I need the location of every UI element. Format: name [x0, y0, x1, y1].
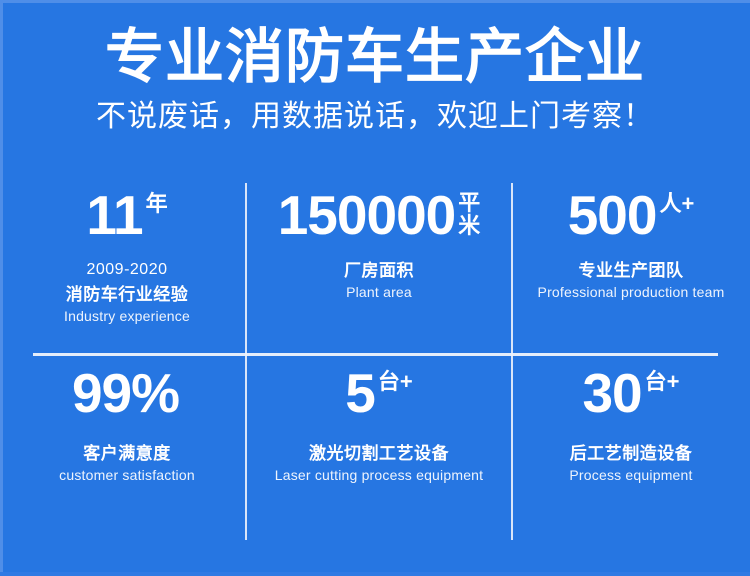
stat-value-row: 500 人+: [512, 184, 750, 256]
stat-number: 500: [568, 184, 657, 246]
stat-value-row: 5 台+: [246, 362, 512, 438]
stat-number: 30: [582, 362, 641, 424]
stat-label-cn: 激光切割工艺设备: [246, 442, 512, 465]
stat-card-customer-satisfaction: 99% 客户满意度 customer satisfaction: [8, 362, 246, 532]
stat-label-en: customer satisfaction: [8, 466, 246, 485]
stat-unit: 人+: [659, 192, 694, 216]
stat-number: 11: [86, 184, 142, 246]
stat-number: 5: [345, 362, 375, 424]
stat-label-en: Process equipment: [512, 466, 750, 485]
stat-label-en: Laser cutting process equipment: [246, 466, 512, 485]
stat-label-cn: 厂房面积: [246, 259, 512, 282]
grid-divider-vertical-left: [245, 183, 247, 540]
stat-value-row: 11 年: [8, 184, 246, 256]
stat-value-row: 150000 平 米: [246, 184, 512, 256]
page-title: 专业消防车生产企业: [0, 26, 750, 88]
stat-unit: 台+: [378, 370, 413, 394]
stat-label-en: Professional production team: [512, 283, 750, 302]
stat-value-row: 99%: [8, 362, 246, 438]
stat-number: 150000: [278, 184, 456, 246]
stat-card-process-equipment: 30 台+ 后工艺制造设备 Process equipment: [512, 362, 750, 532]
stat-unit-stacked: 平 米: [458, 191, 480, 237]
stat-unit-bottom: 米: [458, 214, 480, 237]
stat-card-plant-area: 150000 平 米 厂房面积 Plant area: [246, 184, 512, 354]
stat-period: 2009-2020: [8, 260, 246, 280]
stat-label-en: Industry experience: [8, 307, 246, 326]
stat-unit-top: 平: [458, 191, 480, 214]
stats-grid: 11 年 2009-2020 消防车行业经验 Industry experien…: [0, 176, 750, 548]
stat-card-production-team: 500 人+ 专业生产团队 Professional production te…: [512, 184, 750, 354]
stat-label-cn: 后工艺制造设备: [512, 442, 750, 465]
stat-value-row: 30 台+: [512, 362, 750, 438]
stat-unit: 年: [146, 192, 168, 216]
stat-card-laser-cutting-equipment: 5 台+ 激光切割工艺设备 Laser cutting process equi…: [246, 362, 512, 532]
page-subtitle: 不说废话，用数据说话，欢迎上门考察！: [0, 100, 750, 134]
stat-label-cn: 客户满意度: [8, 442, 246, 465]
header-banner: 专业消防车生产企业 不说废话，用数据说话，欢迎上门考察！: [0, 0, 750, 134]
stat-label-cn: 消防车行业经验: [8, 283, 246, 306]
stat-unit: 台+: [645, 370, 680, 394]
stat-number: 99%: [72, 362, 179, 424]
grid-divider-horizontal: [33, 353, 718, 356]
grid-divider-vertical-right: [511, 183, 513, 540]
bottom-edge-highlight: [0, 572, 750, 576]
stat-card-industry-experience: 11 年 2009-2020 消防车行业经验 Industry experien…: [8, 184, 246, 354]
stat-label-en: Plant area: [246, 283, 512, 302]
stat-label-cn: 专业生产团队: [512, 259, 750, 282]
